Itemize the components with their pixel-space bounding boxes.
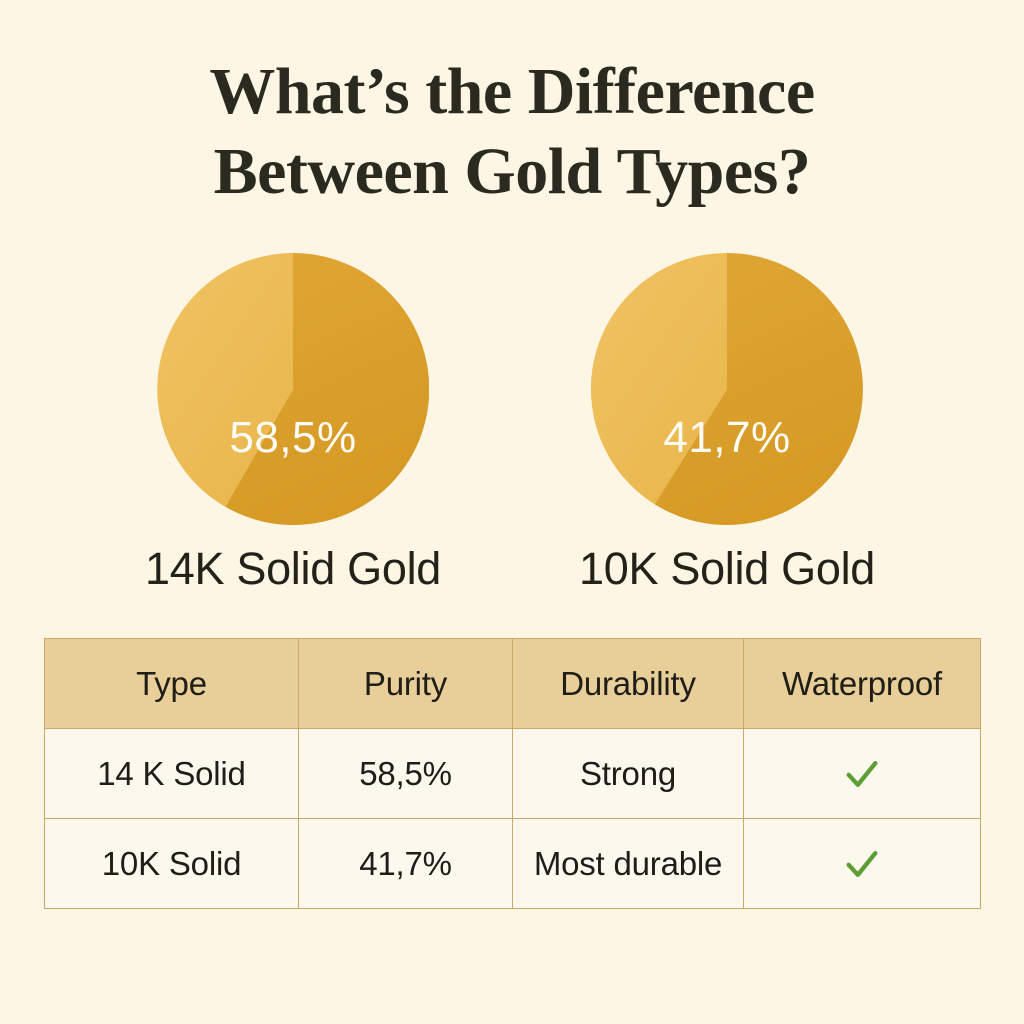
pie-chart-icon xyxy=(591,253,863,525)
table-row: 10K Solid 41,7% Most durable xyxy=(45,819,981,909)
check-icon xyxy=(842,754,882,794)
pie-caption-14k: 14K Solid Gold xyxy=(83,543,503,595)
comparison-table: Type Purity Durability Waterproof 14 K S… xyxy=(44,638,981,909)
column-header-waterproof: Waterproof xyxy=(744,639,981,729)
pie-chart-icon xyxy=(157,253,429,525)
cell-purity: 41,7% xyxy=(299,819,513,909)
page-title-line-1: What’s the Difference xyxy=(0,52,1024,132)
pie-caption-group: 14K Solid Gold 10K Solid Gold xyxy=(0,543,1024,603)
pie-chart-10k: 41,7% xyxy=(591,253,863,525)
column-header-type: Type xyxy=(45,639,299,729)
cell-durability: Most durable xyxy=(513,819,744,909)
cell-waterproof xyxy=(744,819,981,909)
pie-chart-group: 58,5% 41,7% xyxy=(0,253,1024,528)
table-row: 14 K Solid 58,5% Strong xyxy=(45,729,981,819)
page-title: What’s the Difference Between Gold Types… xyxy=(0,52,1024,212)
cell-type: 14 K Solid xyxy=(45,729,299,819)
table-header-row: Type Purity Durability Waterproof xyxy=(45,639,981,729)
infographic-page: What’s the Difference Between Gold Types… xyxy=(0,0,1024,1024)
column-header-durability: Durability xyxy=(513,639,744,729)
cell-waterproof xyxy=(744,729,981,819)
column-header-purity: Purity xyxy=(299,639,513,729)
pie-caption-10k: 10K Solid Gold xyxy=(517,543,937,595)
cell-durability: Strong xyxy=(513,729,744,819)
cell-purity: 58,5% xyxy=(299,729,513,819)
check-icon xyxy=(842,844,882,884)
page-title-line-2: Between Gold Types? xyxy=(0,132,1024,212)
cell-type: 10K Solid xyxy=(45,819,299,909)
pie-chart-14k: 58,5% xyxy=(157,253,429,525)
